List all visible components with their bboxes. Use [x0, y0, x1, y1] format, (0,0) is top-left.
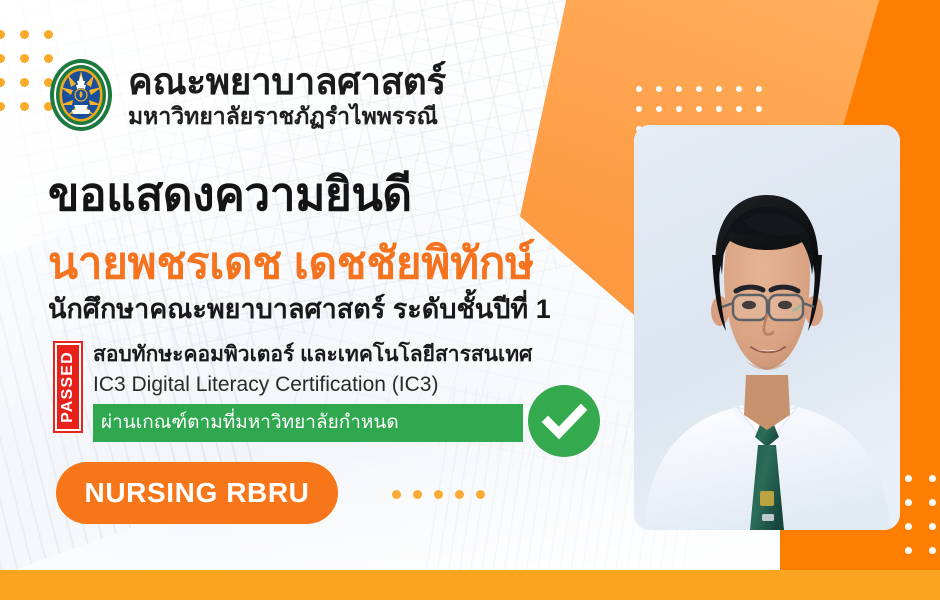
decorative-dot: [0, 54, 5, 63]
orange-dot-row: [392, 490, 497, 511]
decorative-dot: [905, 547, 912, 554]
passed-stamp: PASSED: [53, 341, 83, 433]
certification-exam-english: IC3 Digital Literacy Certification (IC3): [93, 371, 532, 398]
decorative-dot: [656, 86, 662, 92]
student-portrait-photo: [634, 125, 900, 530]
rbru-university-crest-icon: [48, 57, 114, 133]
decorative-dot: [44, 30, 53, 39]
decorative-dot: [0, 78, 5, 87]
decorative-dot: [676, 106, 682, 112]
decorative-dot: [905, 523, 912, 530]
decorative-dot: [392, 490, 401, 499]
white-dot-grid-bottom-right: [905, 475, 940, 571]
check-circle-icon: [528, 385, 600, 457]
decorative-dot: [929, 475, 936, 482]
decorative-dot: [696, 106, 702, 112]
decorative-dot: [636, 86, 642, 92]
decorative-dot: [756, 106, 762, 112]
decorative-dot: [413, 490, 422, 499]
orange-bottom-bar: [0, 570, 940, 600]
passed-stamp-label: PASSED: [59, 351, 77, 423]
university-name: มหาวิทยาลัยราชภัฏรำไพพรรณี: [128, 105, 446, 128]
honoree-role: นักศึกษาคณะพยาบาลศาสตร์ ระดับชั้นปีที่ 1: [48, 287, 551, 330]
decorative-dot: [636, 106, 642, 112]
certification-block: PASSED สอบทักษะคอมพิวเตอร์ และเทคโนโลยีส…: [53, 341, 532, 442]
decorative-dot: [20, 78, 29, 87]
decorative-dot: [929, 547, 936, 554]
nursing-rbru-button[interactable]: NURSING RBRU: [56, 462, 338, 524]
decorative-dot: [716, 86, 722, 92]
decorative-dot: [929, 523, 936, 530]
decorative-dot: [0, 102, 5, 111]
faculty-name: คณะพยาบาลศาสตร์: [128, 63, 446, 100]
certification-exam-thai: สอบทักษะคอมพิวเตอร์ และเทคโนโลยีสารสนเทศ: [93, 342, 532, 368]
decorative-dot: [905, 475, 912, 482]
certification-result-bar: ผ่านเกณฑ์ตามที่มหาวิทยาลัยกำหนด: [93, 404, 523, 442]
decorative-dot: [20, 30, 29, 39]
decorative-dot: [736, 86, 742, 92]
decorative-dot: [20, 54, 29, 63]
congratulations-heading: ขอแสดงความยินดี: [48, 158, 412, 231]
decorative-dot: [716, 106, 722, 112]
congratulations-banner: คณะพยาบาลศาสตร์ มหาวิทยาลัยราชภัฏรำไพพรร…: [0, 0, 940, 600]
faculty-header: คณะพยาบาลศาสตร์ มหาวิทยาลัยราชภัฏรำไพพรร…: [48, 57, 446, 133]
decorative-dot: [736, 106, 742, 112]
decorative-dot: [20, 102, 29, 111]
decorative-dot: [905, 499, 912, 506]
decorative-dot: [756, 86, 762, 92]
decorative-dot: [656, 106, 662, 112]
decorative-dot: [0, 30, 5, 39]
decorative-dot: [929, 499, 936, 506]
decorative-dot: [696, 86, 702, 92]
decorative-dot: [676, 86, 682, 92]
decorative-dot: [434, 490, 443, 499]
decorative-dot: [455, 490, 464, 499]
decorative-dot: [476, 490, 485, 499]
